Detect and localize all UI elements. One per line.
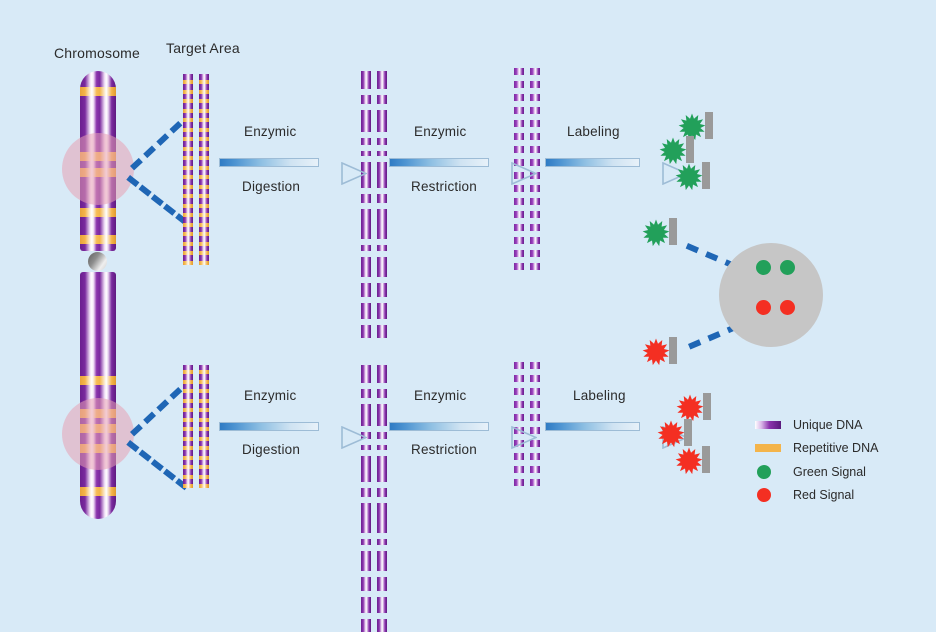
legend-item-repetitive-dna: Repetitive DNA [755,444,781,452]
dna-fragment [361,503,371,533]
repetitive-band [183,380,193,384]
dna-fragment-small [514,414,524,421]
dna-fragment-small [530,133,540,140]
repetitive-band [183,137,193,141]
repetitive-band [183,204,193,208]
legend-label: Unique DNA [793,418,862,432]
repetitive-band [199,408,209,412]
dna-fragment [377,151,387,156]
step-label-top-1-line2: Restriction [411,179,477,194]
repetitive-band [183,446,193,450]
dna-fragment [377,404,387,426]
dna-fragment [377,325,387,338]
dna-fragment-small [514,250,524,257]
dna-fragment-small [530,224,540,231]
dna-fragment-small [530,401,540,408]
dna-fragment [377,488,387,497]
dna-fragment-small [530,146,540,153]
dna-fragment-small [530,466,540,473]
dna-fragment [361,456,371,482]
repetitive-band [199,389,209,393]
dna-fragment-small [530,263,540,270]
target-region-highlight-bottom [62,398,134,470]
legend-item-green-signal: Green Signal [757,465,771,479]
dna-fragment [377,209,387,239]
repetitive-band [183,99,193,103]
repetitive-band [183,484,193,488]
repetitive-band [199,223,209,227]
repetitive-band [183,408,193,412]
dna-fragment-small [530,237,540,244]
target-area-label: Target Area [166,40,240,56]
dna-fragment-small [530,107,540,114]
repetitive-band [183,232,193,236]
repetitive-band [199,242,209,246]
dna-fragment-small [514,224,524,231]
dna-fragment-small [514,146,524,153]
repetitive-band [183,185,193,189]
repetitive-band [183,370,193,374]
repetitive-band [183,251,193,255]
dna-fragment-small [514,375,524,382]
nucleus-red-signal [780,300,795,315]
dna-fragment [377,619,387,632]
repetitive-band [199,427,209,431]
step-label-bottom-1-line1: Enzymic [414,388,466,403]
dna-fragment [377,71,387,89]
dna-fragment [377,503,387,533]
repetitive-band [183,128,193,132]
repetitive-band [183,147,193,151]
dna-fragment-small [514,237,524,244]
repetitive-band [199,232,209,236]
dna-fragment-small [514,401,524,408]
step-label-top-2-line1: Labeling [567,124,620,139]
dna-fragment [377,389,387,398]
repetitive-band [199,446,209,450]
dna-fragment [361,404,371,426]
red-fluorophore [640,336,672,373]
repetitive-band [183,427,193,431]
dna-fragment [377,445,387,450]
repetitive-dna-swatch [755,444,781,452]
repetitive-band [183,389,193,393]
repetitive-band [199,475,209,479]
repetitive-band [199,185,209,189]
dna-fragment-small [530,198,540,205]
legend-label: Repetitive DNA [793,441,878,455]
repetitive-band [183,465,193,469]
dna-fragment-small [514,107,524,114]
fish-workflow-diagram: Chromosome Target Area [0,0,936,603]
repetitive-band [199,147,209,151]
nucleus-green-signal [780,260,795,275]
dna-fragment [361,151,371,156]
dna-fragment-small [514,211,524,218]
dna-fragment-small [514,479,524,486]
dna-fragment [361,257,371,277]
dna-fragment-small [530,453,540,460]
dna-fragment [377,539,387,545]
repetitive-band [199,484,209,488]
dna-fragment-small [514,198,524,205]
dna-fragment [361,365,371,383]
dna-fragment [361,597,371,613]
chromosome-band [80,487,116,496]
repetitive-band [199,204,209,208]
repetitive-band [199,137,209,141]
dna-fragment-small [530,68,540,75]
dna-fragment [377,245,387,251]
repetitive-band [199,128,209,132]
connector-dashed-bottom-lower [126,440,188,490]
repetitive-band [183,456,193,460]
dna-fragment-small [530,250,540,257]
repetitive-band [183,90,193,94]
dna-fragment [361,283,371,297]
repetitive-band [199,194,209,198]
target-region-highlight-top [62,133,134,205]
dna-fragment-small [530,185,540,192]
repetitive-band [183,118,193,122]
legend-item-unique-dna: Unique DNA [755,421,781,429]
dna-fragment [377,257,387,277]
repetitive-band [183,80,193,84]
dna-fragment-small [514,120,524,127]
chromosome-band [80,208,116,217]
repetitive-band [183,418,193,422]
dna-fragment-small [514,453,524,460]
dna-fragment [361,488,371,497]
dna-fragment-small [514,94,524,101]
step-label-bottom-0-line2: Digestion [242,442,300,457]
dna-fragment-small [530,81,540,88]
repetitive-band [199,380,209,384]
dna-fragment [361,138,371,145]
centromere [88,252,107,271]
dna-fragment [361,551,371,571]
repetitive-band [183,223,193,227]
nucleus-green-signal [756,260,771,275]
connector-dashed-bottom-upper [130,387,182,436]
dna-fragment-small [530,94,540,101]
nucleus-red-signal [756,300,771,315]
repetitive-band [199,251,209,255]
repetitive-band [183,242,193,246]
nucleus [719,243,823,347]
dna-fragment-small [514,362,524,369]
repetitive-band [199,109,209,113]
repetitive-band [199,166,209,170]
unique-dna-swatch [755,421,781,429]
dna-fragment [377,162,387,188]
repetitive-band [199,90,209,94]
repetitive-band [199,418,209,422]
repetitive-band [183,475,193,479]
repetitive-band [183,175,193,179]
dna-fragment [361,325,371,338]
repetitive-band [183,156,193,160]
dna-fragment [377,95,387,104]
dna-fragment-small [530,388,540,395]
red-fluorophore [673,445,705,482]
dna-fragment-small [530,375,540,382]
chromosome-lower-arm [80,272,116,519]
dna-fragment [377,577,387,591]
legend-label: Red Signal [793,488,854,502]
repetitive-band [199,465,209,469]
repetitive-band [183,213,193,217]
dna-fragment [377,432,387,439]
step-label-bottom-0-line1: Enzymic [244,388,296,403]
step-label-bottom-1-line2: Restriction [411,442,477,457]
repetitive-band [199,99,209,103]
dna-fragment [377,551,387,571]
dna-fragment [361,71,371,89]
dna-fragment-small [514,466,524,473]
dna-fragment [361,389,371,398]
dna-fragment [361,110,371,132]
legend-item-red-signal: Red Signal [757,488,771,502]
repetitive-band [183,194,193,198]
dna-fragment-small [514,388,524,395]
dna-fragment [361,303,371,319]
repetitive-band [199,80,209,84]
repetitive-band [183,109,193,113]
green-fluorophore [673,161,705,198]
dna-fragment-small [530,120,540,127]
dna-fragment [377,303,387,319]
dna-fragment [377,194,387,203]
dna-fragment [361,577,371,591]
dna-fragment [377,365,387,383]
dna-fragment-small [514,68,524,75]
legend-label: Green Signal [793,465,866,479]
dna-fragment-small [530,362,540,369]
step-label-top-1-line1: Enzymic [414,124,466,139]
chromosome-band [80,235,116,244]
dna-fragment [377,456,387,482]
repetitive-band [199,261,209,265]
dna-fragment-small [530,414,540,421]
dna-fragment [377,283,387,297]
dna-fragment [377,597,387,613]
dna-fragment [361,619,371,632]
connector-dashed-top-lower [126,175,188,225]
repetitive-band [199,437,209,441]
dna-fragment [377,110,387,132]
repetitive-band [199,370,209,374]
dna-fragment-small [514,133,524,140]
repetitive-band [183,399,193,403]
repetitive-band [199,118,209,122]
dna-fragment [377,138,387,145]
dna-fragment [361,95,371,104]
step-label-top-0-line2: Digestion [242,179,300,194]
repetitive-band [199,456,209,460]
green-fluorophore [640,217,672,254]
dna-fragment-small [514,185,524,192]
dna-fragment-small [530,211,540,218]
repetitive-band [183,166,193,170]
chromosome-band [80,376,116,385]
repetitive-band [199,399,209,403]
dna-fragment [361,539,371,545]
dna-fragment [361,245,371,251]
step-label-top-0-line1: Enzymic [244,124,296,139]
connector-dashed-top-upper [130,121,182,170]
green-signal-swatch [757,465,771,479]
repetitive-band [199,213,209,217]
dna-fragment-small [514,263,524,270]
dna-fragment [361,209,371,239]
repetitive-band [199,175,209,179]
repetitive-band [183,261,193,265]
dna-fragment-small [530,479,540,486]
chromosome-label: Chromosome [54,45,140,61]
repetitive-band [199,156,209,160]
step-label-bottom-2-line1: Labeling [573,388,626,403]
dna-fragment-small [514,81,524,88]
repetitive-band [183,437,193,441]
dna-fragment [361,194,371,203]
red-signal-swatch [757,488,771,502]
chromosome-band [80,87,116,96]
